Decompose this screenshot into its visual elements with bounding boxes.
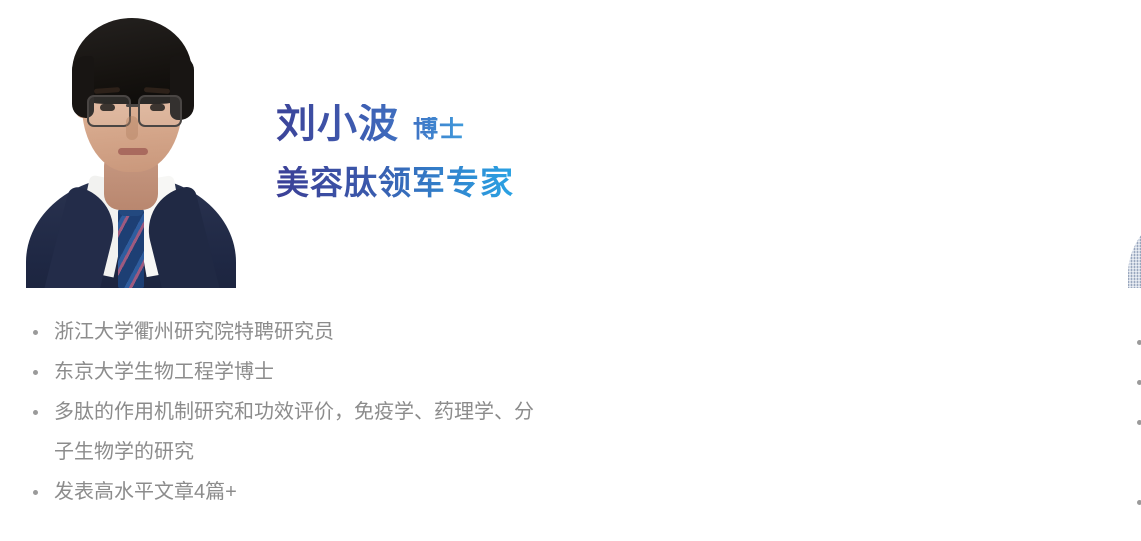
expert-2-credentials-list: 浙江大学衢州研究院特聘研究员 德国柏林工业大学化学博士 多肽和蛋白质动力学、动态…: [1132, 322, 1141, 522]
expert-1-title: 美容肽领军专家: [276, 166, 514, 199]
list-item: 德国柏林工业大学化学博士: [1132, 362, 1141, 402]
list-item: 东京大学生物工程学博士: [28, 352, 538, 392]
list-item: 发表高水平文章4篇+: [1132, 482, 1141, 522]
list-item: 浙江大学衢州研究院特聘研究员: [1132, 322, 1141, 362]
expert-1-credentials-list: 浙江大学衢州研究院特聘研究员 东京大学生物工程学博士 多肽的作用机制研究和功效评…: [28, 312, 538, 512]
eyeglasses-bridge: [126, 104, 139, 107]
list-item: 浙江大学衢州研究院特聘研究员: [28, 312, 538, 352]
expert-1-heading: 刘小波 博士 美容肽领军专家: [276, 104, 514, 199]
eyeglasses-lens-right: [138, 95, 182, 127]
expert-2-portrait-photo: [1126, 0, 1141, 288]
eyeglasses-lens-left: [87, 95, 131, 127]
expert-1-name-line: 刘小波 博士: [276, 104, 514, 144]
expert-1-degree: 博士: [413, 117, 465, 142]
list-item: 多肽的作用机制研究和功效评价，免疫学、药理学、分子生物学的研究: [28, 392, 538, 472]
expert-1-portrait-photo: [22, 0, 240, 288]
expert-1-name: 刘小波: [276, 104, 399, 144]
nose-shape: [126, 116, 138, 140]
expert-profiles-banner: 刘小波 博士 美容肽领军专家 浙江大学衢州研究院特聘研究员 东京大学生物工程学博…: [0, 0, 1141, 541]
striped-necktie: [118, 208, 144, 288]
textured-shirt-shape: [1128, 186, 1141, 288]
mouth-shape: [118, 148, 148, 155]
list-item: 多肽和蛋白质动力学、动态相互作用和生物分子机制的研究: [1132, 402, 1141, 482]
list-item: 发表高水平文章4篇+: [28, 472, 538, 512]
